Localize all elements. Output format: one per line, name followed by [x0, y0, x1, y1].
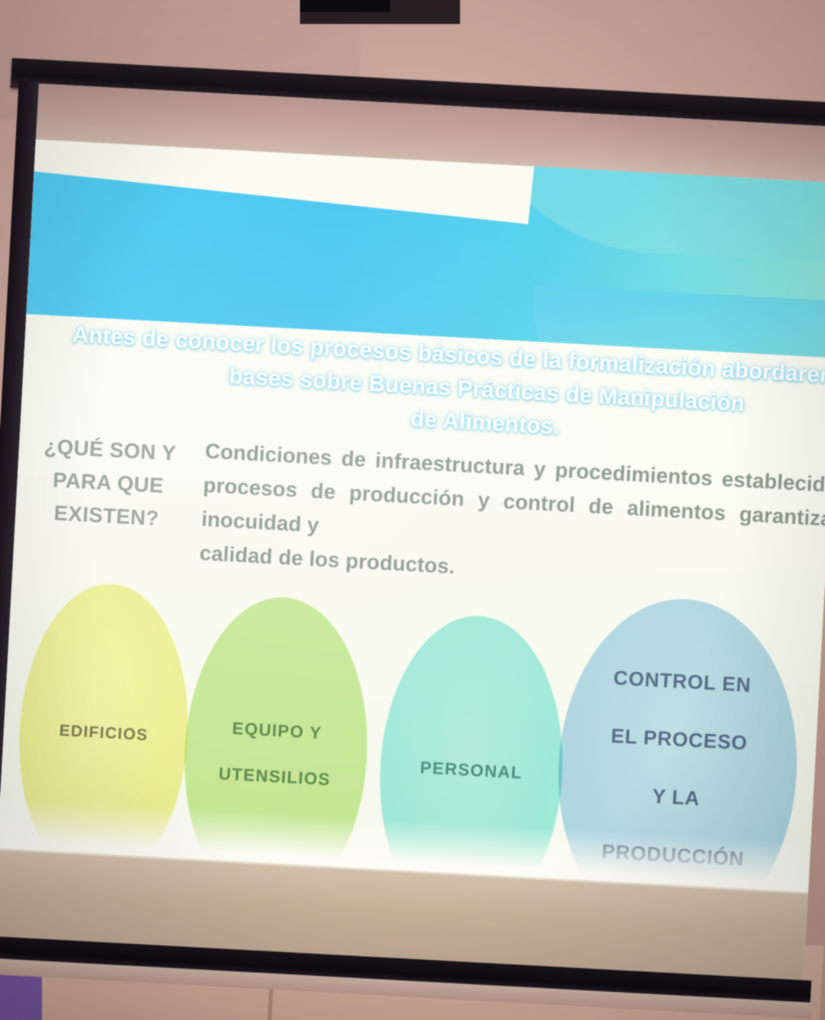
pillar-4-line-2: EL PROCESO	[607, 722, 751, 759]
question-line-3: EXISTEN?	[53, 502, 159, 531]
pillar-1-line-1: EDIFICIOS	[59, 722, 149, 747]
slide-question-label: ¿QUÉ SON Y PARA QUE EXISTEN?	[11, 429, 206, 538]
pillar-4-line-3: Y LA	[604, 780, 748, 817]
pillar-4-line-1: CONTROL EN	[610, 664, 754, 701]
pillar-3-line-1: PERSONAL	[419, 757, 523, 785]
pillar-2-line-1: EQUIPO Y	[221, 716, 334, 745]
pillar-2-line-2: UTENSILIOS	[218, 762, 331, 791]
question-line-2: PARA QUE	[52, 469, 164, 498]
question-line-1: ¿QUÉ SON Y	[43, 435, 176, 465]
ceiling-dark-patch	[300, 0, 390, 12]
photo-scene: Antes de conocer los procesos básicos de…	[0, 0, 825, 1020]
presentation-slide: Antes de conocer los procesos básicos de…	[0, 139, 825, 892]
projection-screen: Antes de conocer los procesos básicos de…	[0, 60, 825, 984]
